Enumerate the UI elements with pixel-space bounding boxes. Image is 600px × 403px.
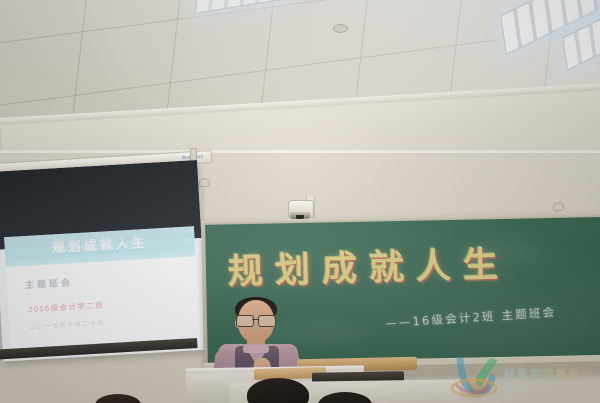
slide-date-line: 二〇一七年十月二十日 bbox=[29, 318, 105, 331]
pendant-cap-1 bbox=[199, 178, 210, 187]
pendant-cap-3 bbox=[553, 202, 564, 211]
blackboard-title: 规划成就人生 bbox=[227, 234, 588, 295]
wall-top-edge bbox=[0, 150, 600, 153]
slide-class-line: 2016级会计学二班 bbox=[28, 300, 104, 315]
slide-subtitle: 主题班会 bbox=[25, 275, 74, 291]
glasses-bridge bbox=[252, 319, 258, 320]
projected-slide: 规划成就人生 主题班会 2016级会计学二班 二〇一七年十月二十日 bbox=[4, 226, 201, 357]
news-center-logo-icon bbox=[450, 354, 502, 398]
presenter-collar bbox=[243, 345, 269, 353]
projection-screen: 规划成就人生 主题班会 2016级会计学二班 二〇一七年十月二十日 bbox=[0, 160, 208, 361]
classroom-photo-scene: Boulevard 规划成就人生 主题班会 2016级会计学二班 二〇一七年十月… bbox=[0, 0, 600, 403]
watermark-subtext: Jingguan College News Center bbox=[506, 382, 583, 387]
glasses-lens-right bbox=[258, 315, 276, 327]
watermark: 经管学院新闻中心 Jingguan College News Center bbox=[448, 352, 600, 400]
glasses-icon bbox=[235, 315, 277, 326]
smoke-detector-icon bbox=[333, 24, 348, 33]
glasses-lens-left bbox=[236, 315, 254, 327]
blackboard-subtitle: ——16级会计2班 主题班会 bbox=[385, 304, 557, 331]
